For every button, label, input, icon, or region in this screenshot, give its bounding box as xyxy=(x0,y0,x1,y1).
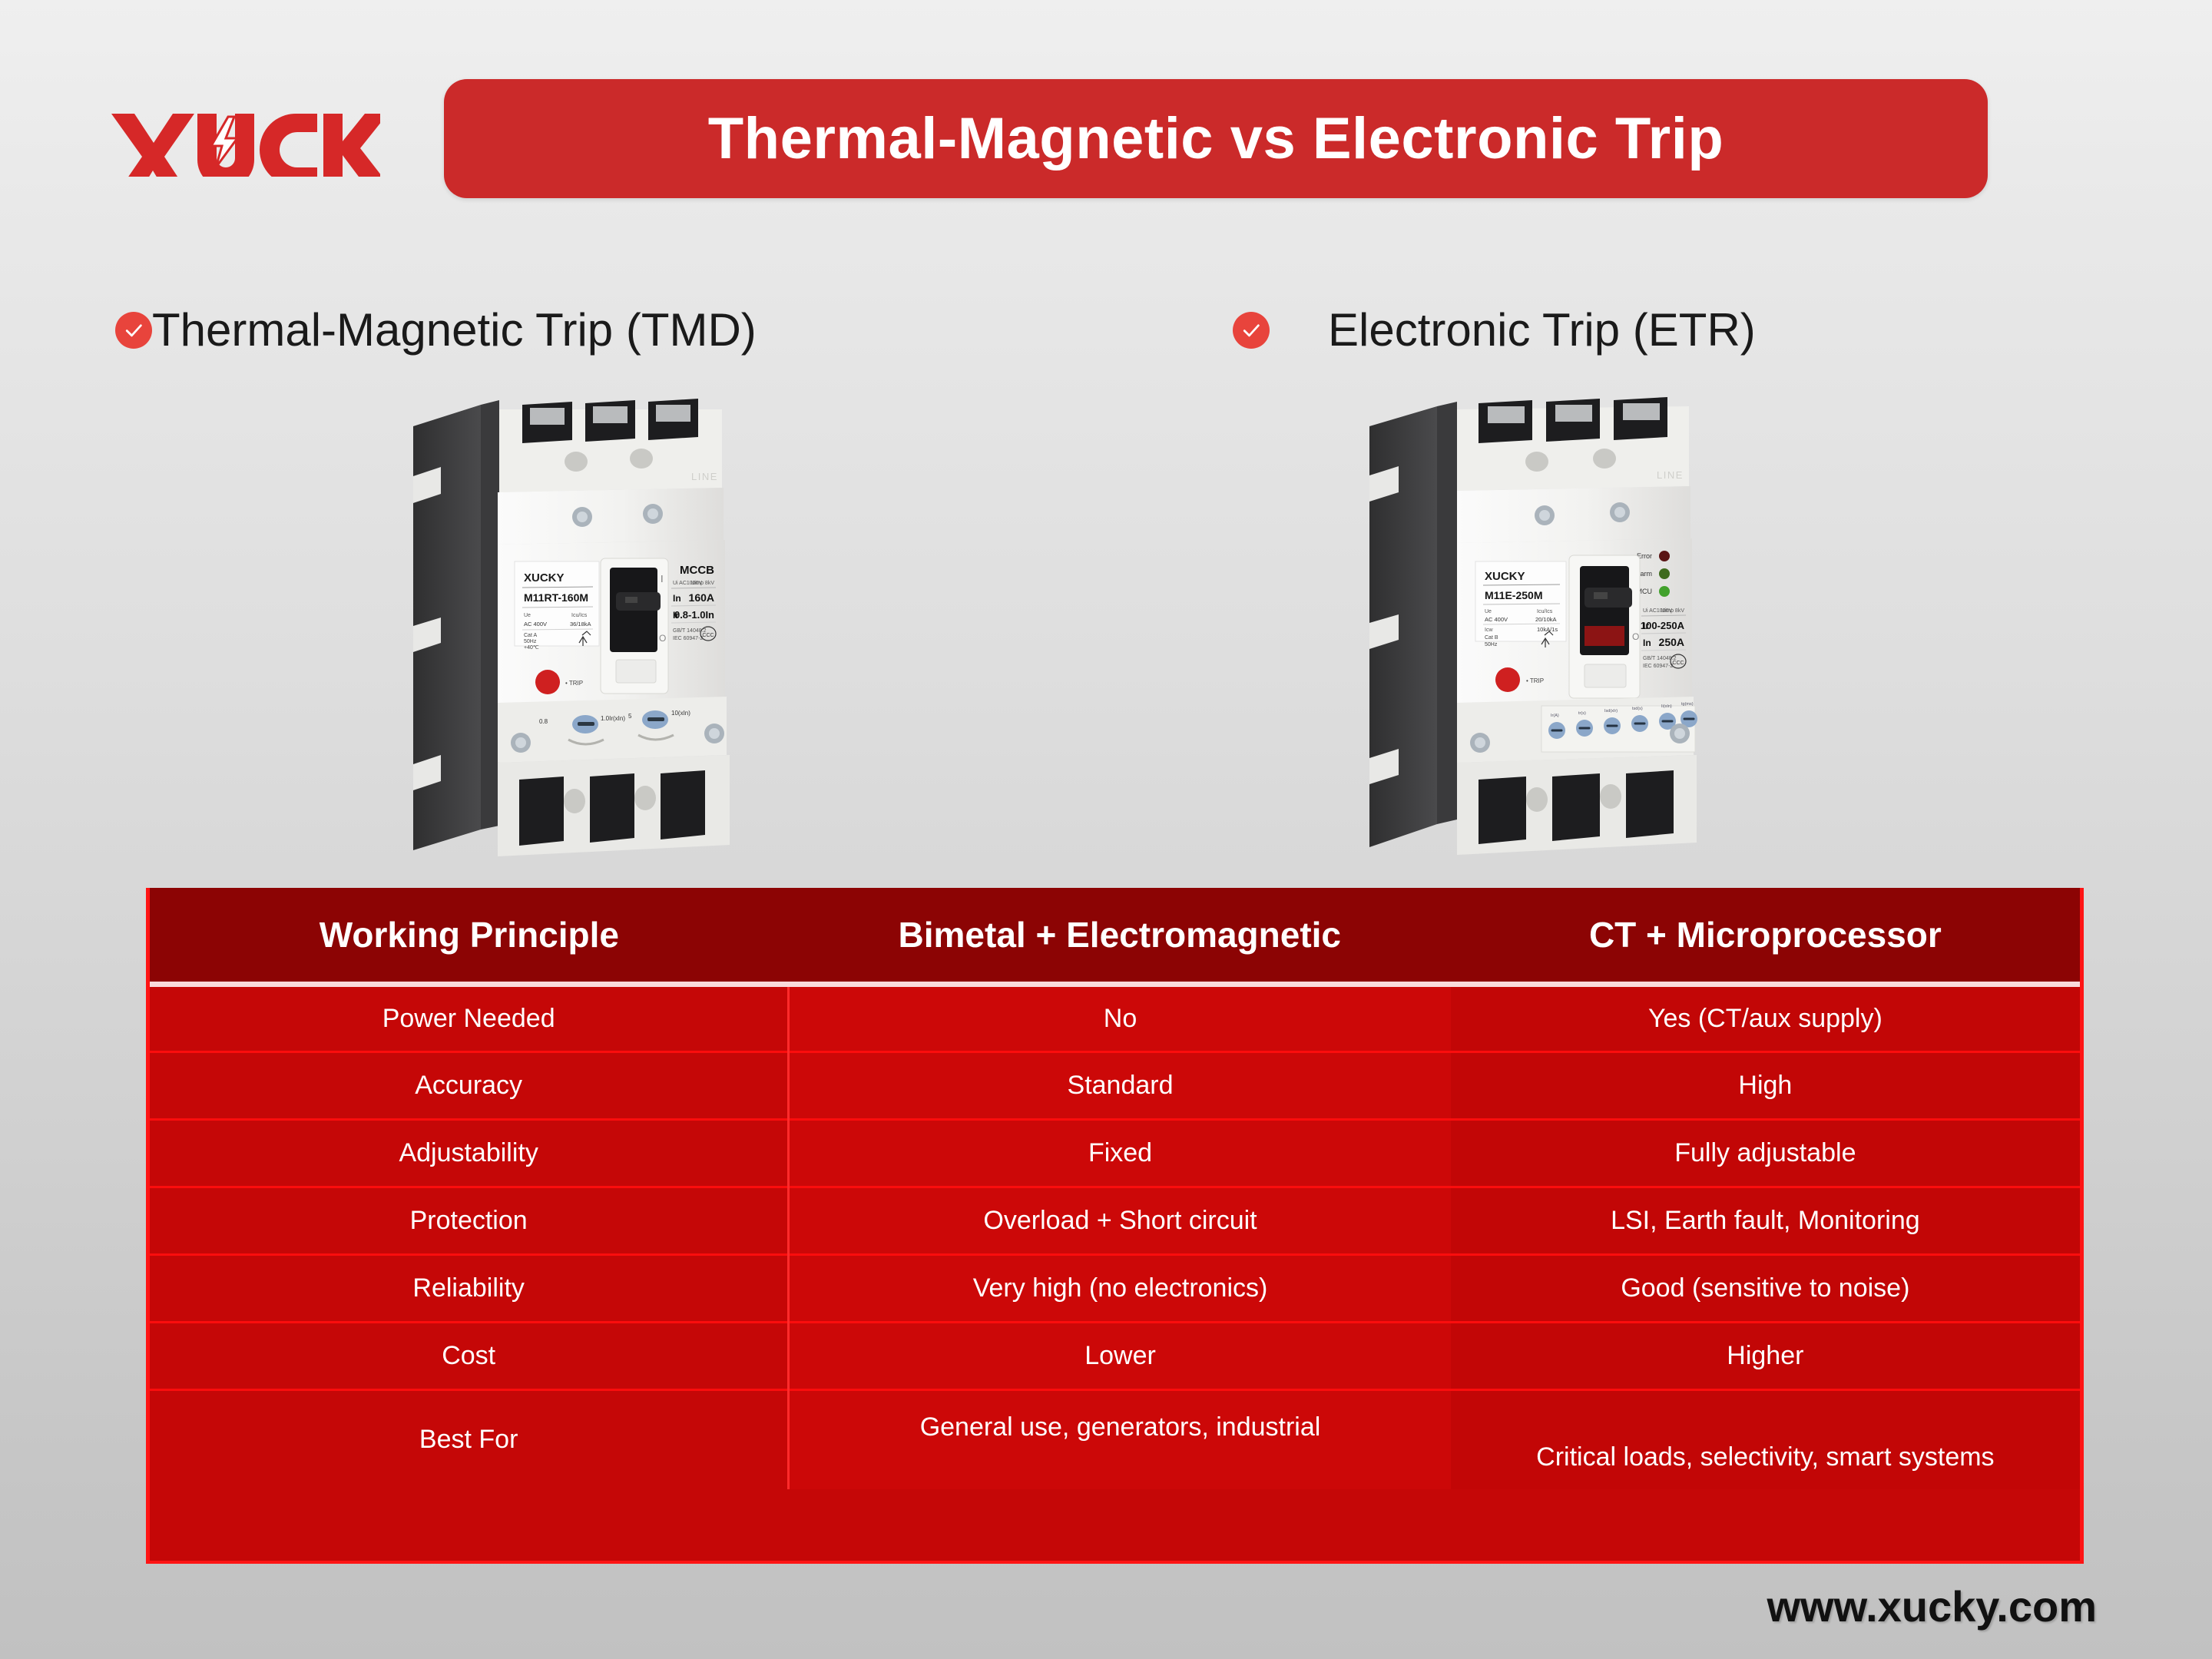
svg-text:O: O xyxy=(659,633,666,644)
svg-text:• TRIP: • TRIP xyxy=(565,680,583,687)
svg-text:+40℃: +40℃ xyxy=(524,645,539,651)
svg-text:10kA/1s: 10kA/1s xyxy=(1537,626,1558,633)
check-circle-icon xyxy=(115,312,152,349)
section-heading-etr: Electronic Trip (ETR) xyxy=(1233,303,1756,356)
svg-text:tg(ms): tg(ms) xyxy=(1681,702,1694,707)
section-label-tmd: Thermal-Magnetic Trip (TMD) xyxy=(152,303,757,356)
section-heading-tmd: Thermal-Magnetic Trip (TMD) xyxy=(115,303,757,356)
table-row: Protection Overload + Short circuit LSI,… xyxy=(150,1187,2080,1254)
svg-text:IEC 60947-2: IEC 60947-2 xyxy=(673,636,703,641)
comparison-table: Working Principle Bimetal + Electromagne… xyxy=(150,888,2080,1489)
cell-etr: High xyxy=(1451,1051,2080,1119)
svg-text:CCC: CCC xyxy=(702,633,714,638)
cell-tmd: No xyxy=(789,984,1451,1051)
table-row: Adjustability Fixed Fully adjustable xyxy=(150,1119,2080,1187)
svg-text:In: In xyxy=(1643,637,1651,648)
table-row: Cost Lower Higher xyxy=(150,1322,2080,1389)
svg-text:M11E-250M: M11E-250M xyxy=(1485,589,1542,601)
svg-text:100-250A: 100-250A xyxy=(1641,620,1685,631)
svg-text:Icw: Icw xyxy=(1485,628,1493,633)
svg-text:Cat A: Cat A xyxy=(524,633,537,638)
svg-text:Isd(xIr): Isd(xIr) xyxy=(1604,709,1618,714)
table-row: Reliability Very high (no electronics) G… xyxy=(150,1254,2080,1322)
table-row: Best For General use, generators, indust… xyxy=(150,1389,2080,1489)
svg-text:10(xIn): 10(xIn) xyxy=(671,710,690,717)
cell-feature: Reliability xyxy=(150,1254,789,1322)
column-header-etr: CT + Microprocessor xyxy=(1451,888,2080,984)
column-header-tmd: Bimetal + Electromagnetic xyxy=(789,888,1451,984)
cell-feature: Protection xyxy=(150,1187,789,1254)
cell-etr: Critical loads, selectivity, smart syste… xyxy=(1451,1389,2080,1489)
cell-tmd: Standard xyxy=(789,1051,1451,1119)
svg-text:5: 5 xyxy=(628,713,632,720)
svg-text:LINE: LINE xyxy=(1657,469,1684,481)
svg-text:In: In xyxy=(673,593,681,604)
svg-text:CCC: CCC xyxy=(1672,661,1684,666)
svg-text:Ue: Ue xyxy=(524,613,531,618)
svg-text:Ir(A): Ir(A) xyxy=(1551,714,1559,718)
svg-text:Uimp 8kV: Uimp 8kV xyxy=(691,581,715,586)
section-label-etr: Electronic Trip (ETR) xyxy=(1328,303,1756,356)
cell-feature: Best For xyxy=(150,1389,789,1489)
svg-text:tsd(s): tsd(s) xyxy=(1632,707,1643,711)
cell-etr: LSI, Earth fault, Monitoring xyxy=(1451,1187,2080,1254)
title-banner: Thermal-Magnetic vs Electronic Trip xyxy=(444,79,1988,198)
cell-etr: Yes (CT/aux supply) xyxy=(1451,984,2080,1051)
svg-text:50Hz: 50Hz xyxy=(1485,642,1498,647)
svg-text:AC 400V: AC 400V xyxy=(1485,616,1508,623)
cell-tmd: Lower xyxy=(789,1322,1451,1389)
svg-text:Cat B: Cat B xyxy=(1485,635,1498,641)
cell-feature: Adjustability xyxy=(150,1119,789,1187)
svg-text:36/18kA: 36/18kA xyxy=(570,621,591,628)
svg-text:0.8: 0.8 xyxy=(539,718,548,725)
cell-feature: Cost xyxy=(150,1322,789,1389)
table-row: Power Needed No Yes (CT/aux supply) xyxy=(150,984,2080,1051)
brand-logo xyxy=(111,108,380,177)
svg-text:160A: 160A xyxy=(689,591,714,604)
svg-text:I: I xyxy=(661,573,664,584)
cell-tmd: Fixed xyxy=(789,1119,1451,1187)
cell-feature: Power Needed xyxy=(150,984,789,1051)
check-circle-icon xyxy=(1233,312,1270,349)
svg-text:Icu/Ics: Icu/Ics xyxy=(571,613,588,618)
svg-text:Ii(xIn): Ii(xIn) xyxy=(1661,704,1672,709)
cell-etr: Fully adjustable xyxy=(1451,1119,2080,1187)
svg-text:1.0Ir(xIn): 1.0Ir(xIn) xyxy=(601,715,625,722)
page-header: Thermal-Magnetic vs Electronic Trip xyxy=(0,0,2212,230)
cell-feature: Accuracy xyxy=(150,1051,789,1119)
cell-etr: Good (sensitive to noise) xyxy=(1451,1254,2080,1322)
svg-text:Uimp 8kV: Uimp 8kV xyxy=(1661,608,1685,614)
svg-text:AC 400V: AC 400V xyxy=(524,621,547,628)
svg-text:O: O xyxy=(1632,631,1639,642)
svg-text:XUCKY: XUCKY xyxy=(1485,570,1525,583)
cell-tmd: General use, generators, industrial xyxy=(789,1389,1451,1489)
svg-text:XUCKY: XUCKY xyxy=(524,571,565,584)
svg-text:MCCB: MCCB xyxy=(680,564,714,577)
footer-website-url[interactable]: www.xucky.com xyxy=(1767,1581,2098,1631)
svg-text:M11RT-160M: M11RT-160M xyxy=(524,591,588,604)
tmd-breaker-image: LINE XUCKY M11RT-160M Ue Icu/Ics AC 400V… xyxy=(407,396,760,872)
cell-tmd: Overload + Short circuit xyxy=(789,1187,1451,1254)
svg-text:Ue: Ue xyxy=(1485,609,1492,614)
svg-text:20/10kA: 20/10kA xyxy=(1535,616,1557,623)
svg-text:250A: 250A xyxy=(1659,636,1684,648)
cell-etr: Higher xyxy=(1451,1322,2080,1389)
svg-text:Icu/Ics: Icu/Ics xyxy=(1537,609,1553,614)
column-header-feature: Working Principle xyxy=(150,888,789,984)
svg-text:tr(s): tr(s) xyxy=(1578,711,1586,716)
svg-text:• TRIP: • TRIP xyxy=(1526,677,1544,684)
cell-tmd: Very high (no electronics) xyxy=(789,1254,1451,1322)
svg-text:LINE: LINE xyxy=(691,471,718,482)
table-row: Accuracy Standard High xyxy=(150,1051,2080,1119)
etr-breaker-image: LINE Error Alarm MCU XUCKY M11E-250M Ue … xyxy=(1363,396,1732,872)
table-header-row: Working Principle Bimetal + Electromagne… xyxy=(150,888,2080,984)
svg-text:50Hz: 50Hz xyxy=(524,639,537,644)
page-title: Thermal-Magnetic vs Electronic Trip xyxy=(708,105,1724,172)
svg-text:IEC 60947-2: IEC 60947-2 xyxy=(1643,664,1673,669)
svg-text:0.8-1.0In: 0.8-1.0In xyxy=(674,609,714,621)
comparison-table-container: Working Principle Bimetal + Electromagne… xyxy=(146,888,2084,1564)
